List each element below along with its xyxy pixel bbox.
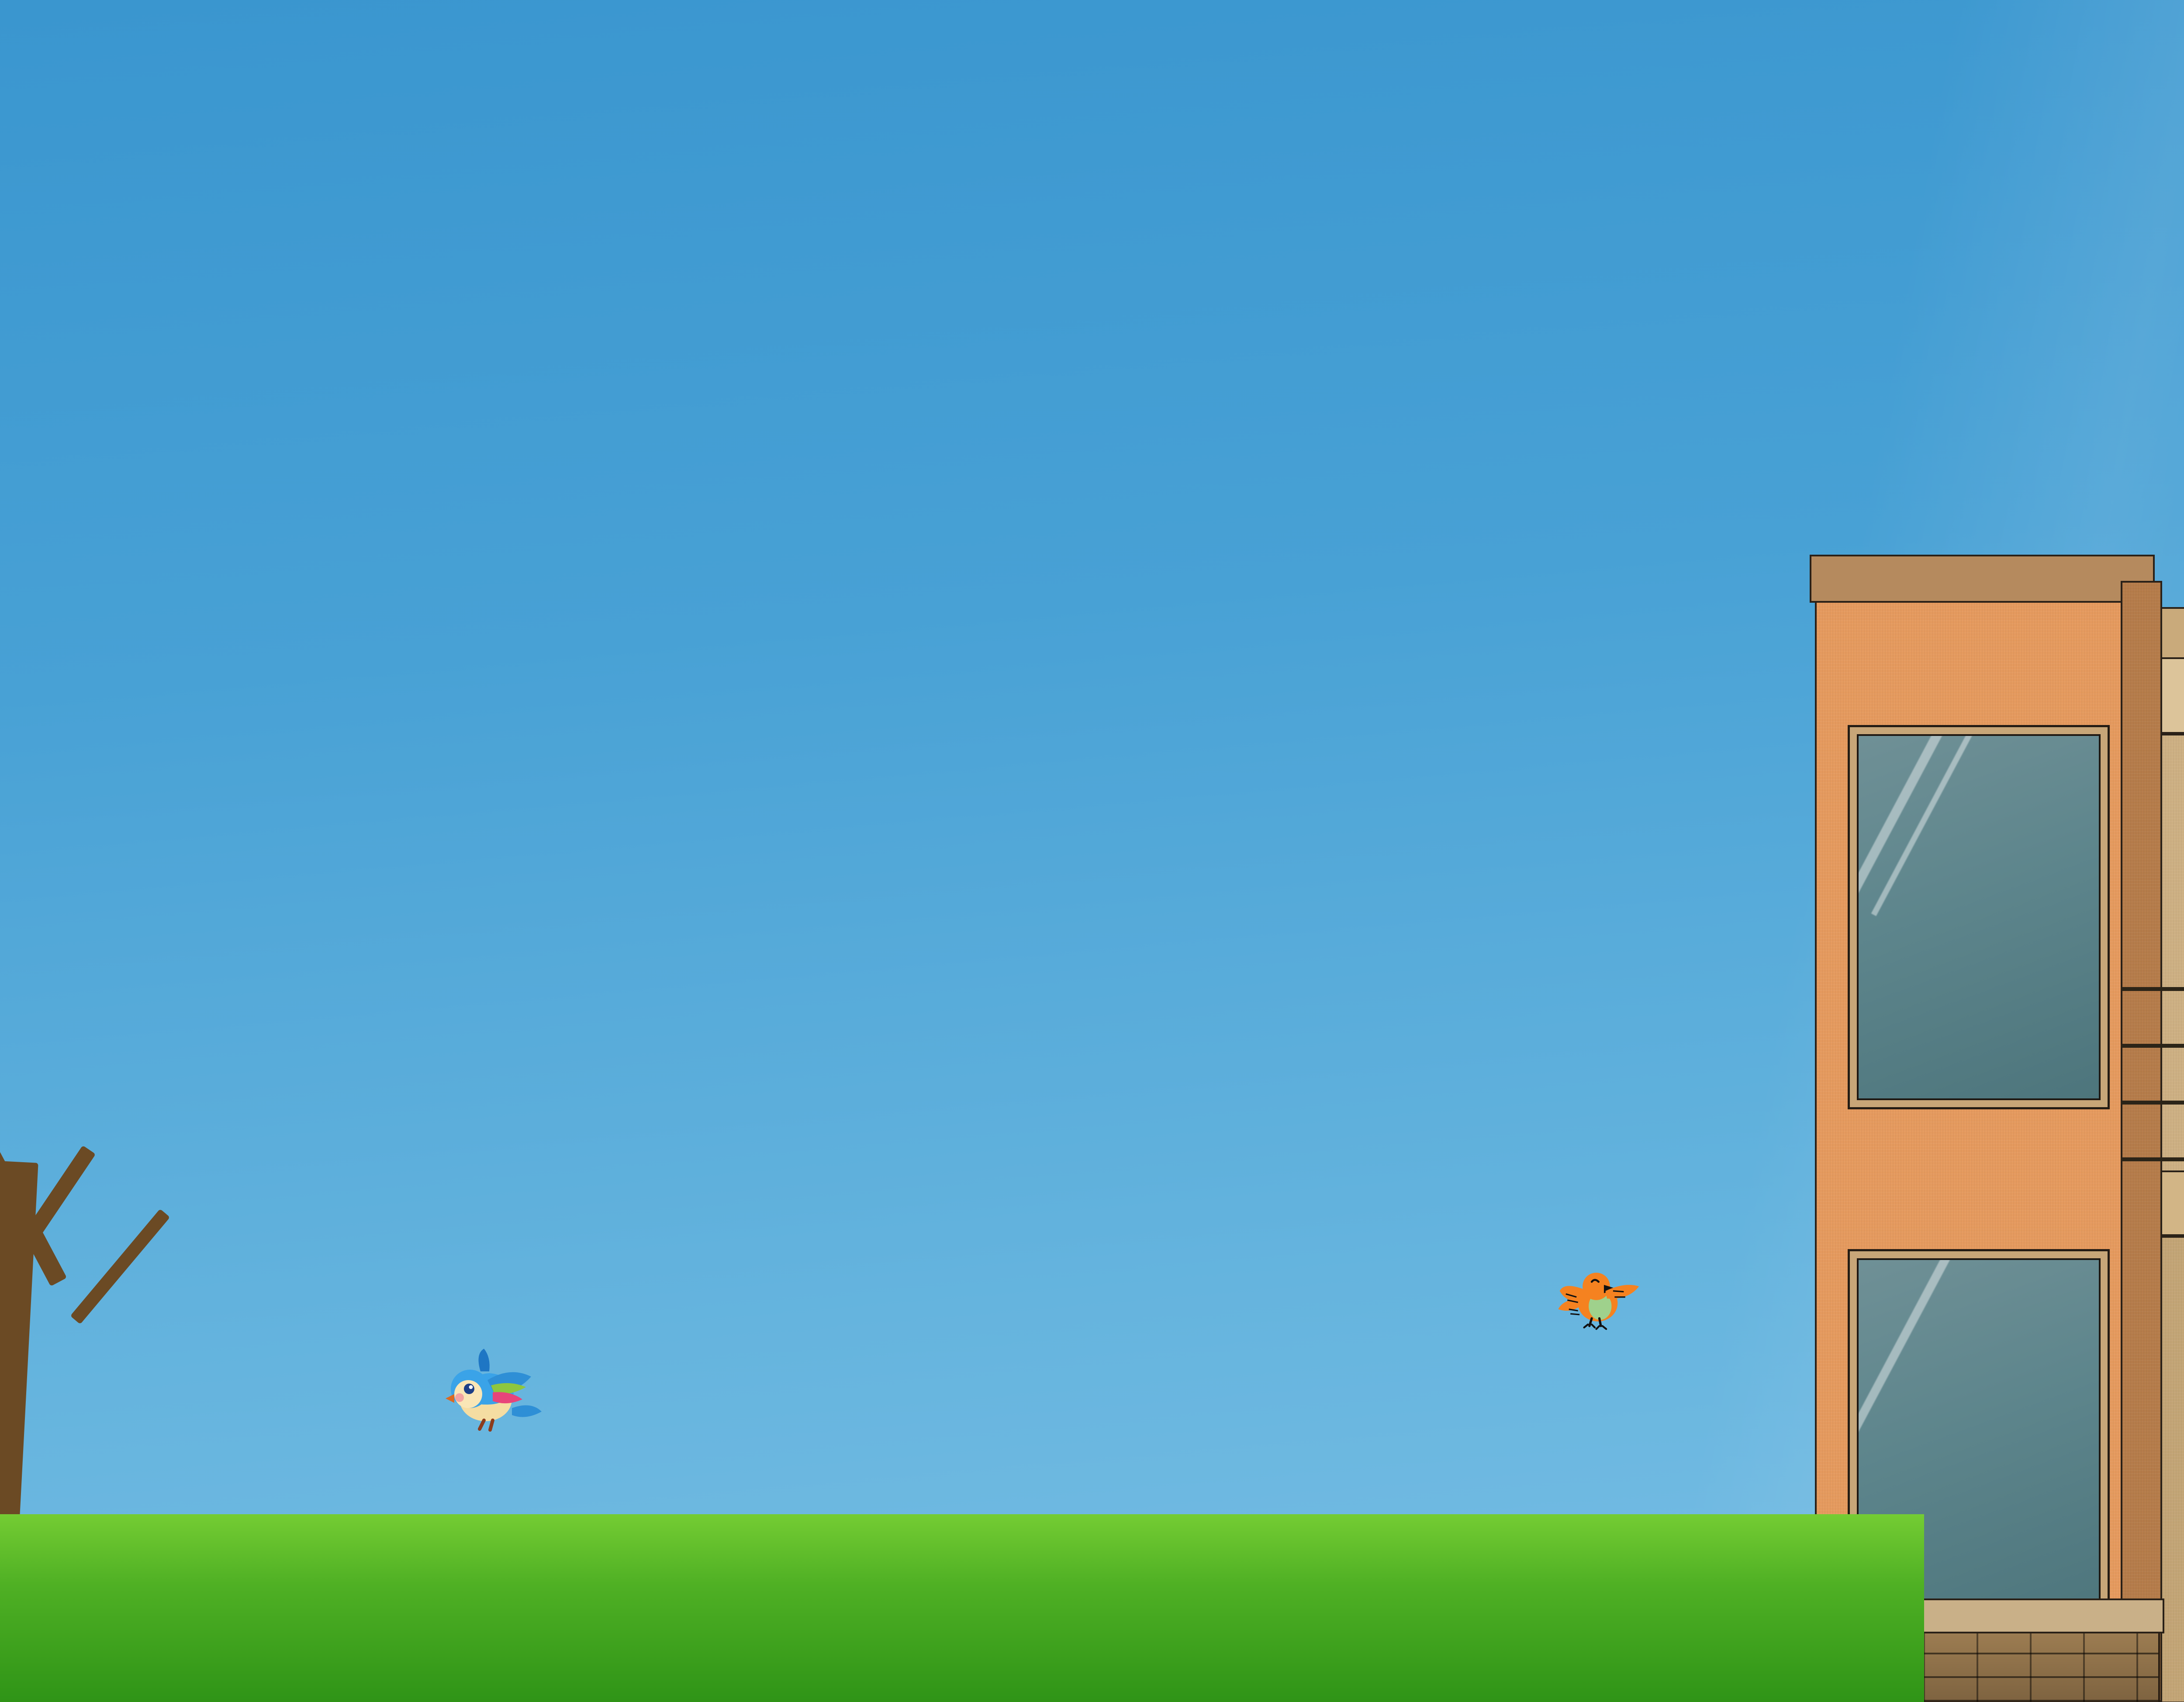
green-leafy-tree [0, 777, 472, 1520]
people-group-upper-left [1859, 859, 2099, 1098]
orange-bird [1555, 1267, 1647, 1332]
body-text-block [419, 437, 1913, 457]
railing-bar [2121, 1101, 2184, 1105]
window-glass [1857, 734, 2101, 1100]
railing-bar [2121, 1157, 2184, 1161]
building-left-roof-cap [1810, 555, 2155, 603]
upper-balcony-railing [2121, 987, 2184, 1175]
blue-bird [437, 1345, 550, 1433]
window-upper-left [1848, 725, 2110, 1109]
railing-bar [2121, 1044, 2184, 1048]
grass-base [0, 1514, 1924, 1702]
railing-bar [2121, 987, 2184, 991]
tree-branch [70, 1209, 170, 1324]
grass-strip [0, 1514, 1924, 1702]
poster-canvas [0, 0, 2184, 1702]
